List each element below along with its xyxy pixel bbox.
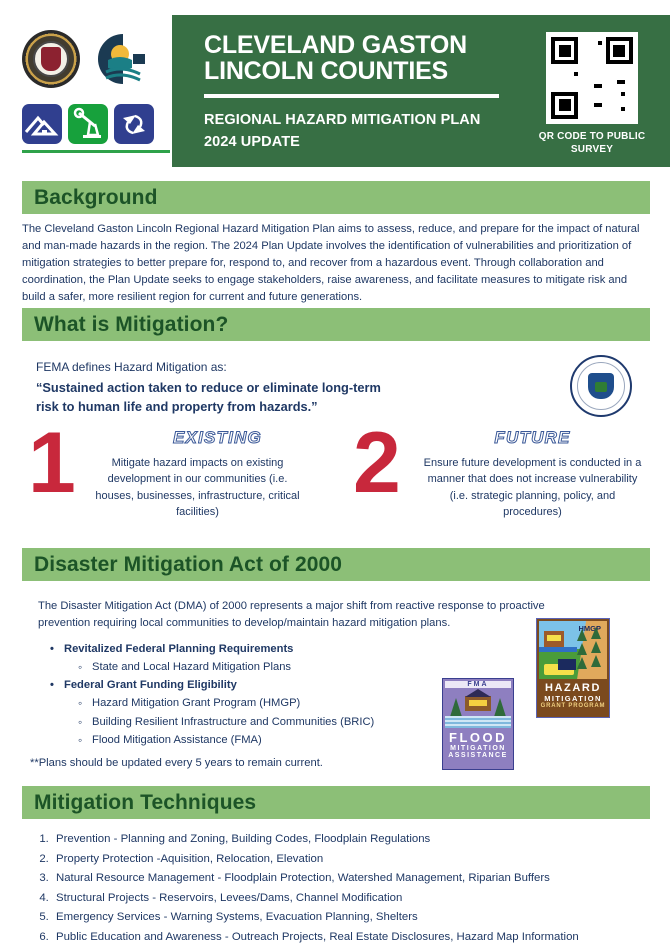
fma-logo: FMA FLOOD MITIGATION ASSISTANCE: [442, 678, 514, 770]
logo-block: [22, 28, 172, 153]
dma-bullet-label: Revitalized Federal Planning Requirement…: [64, 643, 293, 655]
technique-item: Prevention - Planning and Zoning, Buildi…: [52, 830, 670, 850]
fma-logo-line3: ASSISTANCE: [445, 752, 511, 759]
section-header-techniques: Mitigation Techniques: [22, 786, 650, 819]
header: CLEVELAND GASTON LINCOLN COUNTIES REGION…: [0, 0, 670, 180]
lincoln-county-seal-icon: [22, 30, 80, 88]
fma-logo-line1: FLOOD: [445, 730, 511, 745]
section-header-dma: Disaster Mitigation Act of 2000: [22, 548, 650, 581]
fema-definition-lead: FEMA defines Hazard Mitigation as:: [36, 360, 227, 374]
column-number-1: 1: [28, 428, 76, 499]
technique-item: Property Protection -Aquisition, Relocat…: [52, 850, 670, 870]
section-title-background: Background: [34, 186, 158, 210]
mitigation-icon-row: [22, 104, 172, 144]
page-title: CLEVELAND GASTON LINCOLN COUNTIES: [204, 33, 504, 84]
technique-item: Emergency Services - Warning Systems, Ev…: [52, 908, 670, 928]
hmgp-logo: HMGP HAZARD MITIGATION GRANT PROGRAM: [536, 618, 610, 718]
column-title-future: FUTURE: [425, 428, 640, 448]
hmgp-logo-line3: GRANT PROGRAM: [539, 703, 607, 709]
fma-logo-line2: MITIGATION: [445, 745, 511, 752]
dma-bullet-label: Federal Grant Funding Eligibility: [64, 679, 237, 691]
column-number-2: 2: [353, 428, 401, 499]
column-body-future: Ensure future development is conducted i…: [420, 455, 645, 520]
county-seal-row: [22, 28, 172, 90]
page-subtitle: REGIONAL HAZARD MITIGATION PLAN 2024 UPD…: [204, 109, 514, 154]
section-title-techniques: Mitigation Techniques: [34, 791, 256, 815]
dma-sub-list: State and Local Hazard Mitigation Plans: [78, 658, 480, 676]
technique-item: Structural Projects - Reservoirs, Levees…: [52, 889, 670, 909]
dma-sub-item: Building Resilient Infrastructure and Co…: [78, 713, 480, 731]
dma-paragraph: The Disaster Mitigation Act (DMA) of 200…: [38, 598, 598, 632]
dma-bullet-item: Federal Grant Funding EligibilityHazard …: [50, 676, 480, 749]
qr-code-image[interactable]: [546, 32, 638, 124]
dma-sub-item: Hazard Mitigation Grant Program (HMGP): [78, 694, 480, 712]
hmgp-logo-line2: MITIGATION: [539, 694, 607, 703]
recycle-arrows-icon: [114, 104, 154, 144]
section-title-mitigation: What is Mitigation?: [34, 313, 228, 337]
title-banner: CLEVELAND GASTON LINCOLN COUNTIES REGION…: [172, 15, 670, 167]
gaston-county-logo-icon: [90, 30, 152, 88]
fma-logo-top-label: FMA: [445, 681, 511, 688]
technique-item: Public Education and Awareness - Outreac…: [52, 928, 670, 948]
dma-sub-item: Flood Mitigation Assistance (FMA): [78, 731, 480, 749]
qr-code-caption: QR CODE TO PUBLIC SURVEY: [532, 131, 652, 157]
section-header-mitigation: What is Mitigation?: [22, 308, 650, 341]
green-divider-rule: [22, 150, 170, 153]
section-header-background: Background: [22, 181, 650, 214]
techniques-list: Prevention - Planning and Zoning, Buildi…: [52, 830, 670, 948]
column-title-existing: EXISTING: [110, 428, 325, 448]
infographic-page: CLEVELAND GASTON LINCOLN COUNTIES REGION…: [0, 0, 670, 948]
column-body-existing: Mitigate hazard impacts on existing deve…: [90, 455, 305, 520]
homeland-security-seal-icon: [570, 355, 632, 417]
section-title-dma: Disaster Mitigation Act of 2000: [34, 553, 342, 577]
construction-crane-icon: [68, 104, 108, 144]
dma-bullet-item: Revitalized Federal Planning Requirement…: [50, 640, 480, 676]
dma-footnote: **Plans should be updated every 5 years …: [30, 755, 490, 772]
title-divider: [204, 94, 499, 98]
dma-sub-list: Hazard Mitigation Grant Program (HMGP)Bu…: [78, 694, 480, 748]
house-roof-icon: [22, 104, 62, 144]
hmgp-logo-line1: HAZARD: [539, 682, 607, 694]
fema-definition-quote: “Sustained action taken to reduce or eli…: [36, 378, 396, 416]
technique-item: Natural Resource Management - Floodplain…: [52, 869, 670, 889]
dma-sub-item: State and Local Hazard Mitigation Plans: [78, 658, 480, 676]
background-paragraph: The Cleveland Gaston Lincoln Regional Ha…: [22, 221, 650, 306]
dma-bullet-list: Revitalized Federal Planning Requirement…: [50, 640, 480, 749]
qr-code-block[interactable]: QR CODE TO PUBLIC SURVEY: [532, 32, 652, 157]
